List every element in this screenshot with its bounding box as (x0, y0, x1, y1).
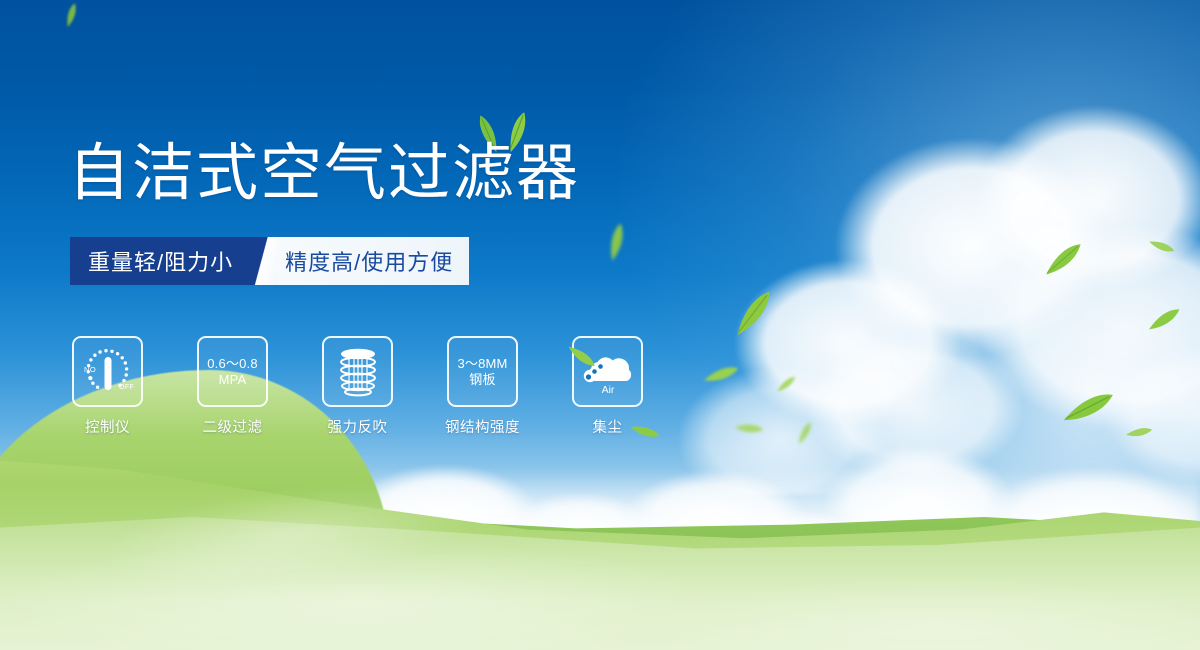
control-dial-icon: NO OFF (72, 336, 143, 407)
feature-label-pressure: 二级过滤 (203, 416, 263, 437)
product-banner: 自洁式空气过滤器 重量轻/阻力小 精度高/使用方便 (0, 0, 1200, 650)
feature-list: NO OFF 控制仪 0.6～0.8 MPA 二级过滤 (72, 336, 643, 437)
steel-line-2: 钢板 (469, 372, 495, 388)
steel-plate-text-icon: 3～8MM 钢板 (447, 336, 518, 407)
feature-item-pressure[interactable]: 0.6～0.8 MPA 二级过滤 (197, 336, 268, 437)
leaf-icon-float-5 (733, 419, 764, 436)
feature-label-dust: 集尘 (593, 416, 623, 437)
subtitle-divider (251, 237, 277, 285)
svg-text:NO: NO (84, 365, 96, 374)
feature-label-steel: 钢结构强度 (445, 416, 520, 437)
feature-item-control[interactable]: NO OFF 控制仪 (72, 336, 143, 437)
feature-label-control: 控制仪 (85, 416, 130, 437)
subtitle-right-text: 精度高/使用方便 (277, 237, 469, 285)
subtitle-left-text: 重量轻/阻力小 (70, 237, 251, 285)
pressure-line-1: 0.6～0.8 (207, 356, 258, 372)
feature-item-blowback[interactable]: 强力反吹 (322, 336, 393, 437)
feature-item-steel[interactable]: 3～8MM 钢板 钢结构强度 (447, 336, 518, 437)
feature-label-blowback: 强力反吹 (328, 416, 388, 437)
page-title: 自洁式空气过滤器 (68, 143, 580, 205)
pressure-line-2: MPA (219, 372, 247, 388)
air-label: Air (601, 384, 614, 396)
pressure-text-icon: 0.6～0.8 MPA (197, 336, 268, 407)
filter-cartridge-icon (322, 336, 393, 407)
steel-line-1: 3～8MM (457, 356, 507, 372)
svg-text:OFF: OFF (119, 384, 134, 391)
subtitle-bar: 重量轻/阻力小 精度高/使用方便 (70, 237, 469, 285)
